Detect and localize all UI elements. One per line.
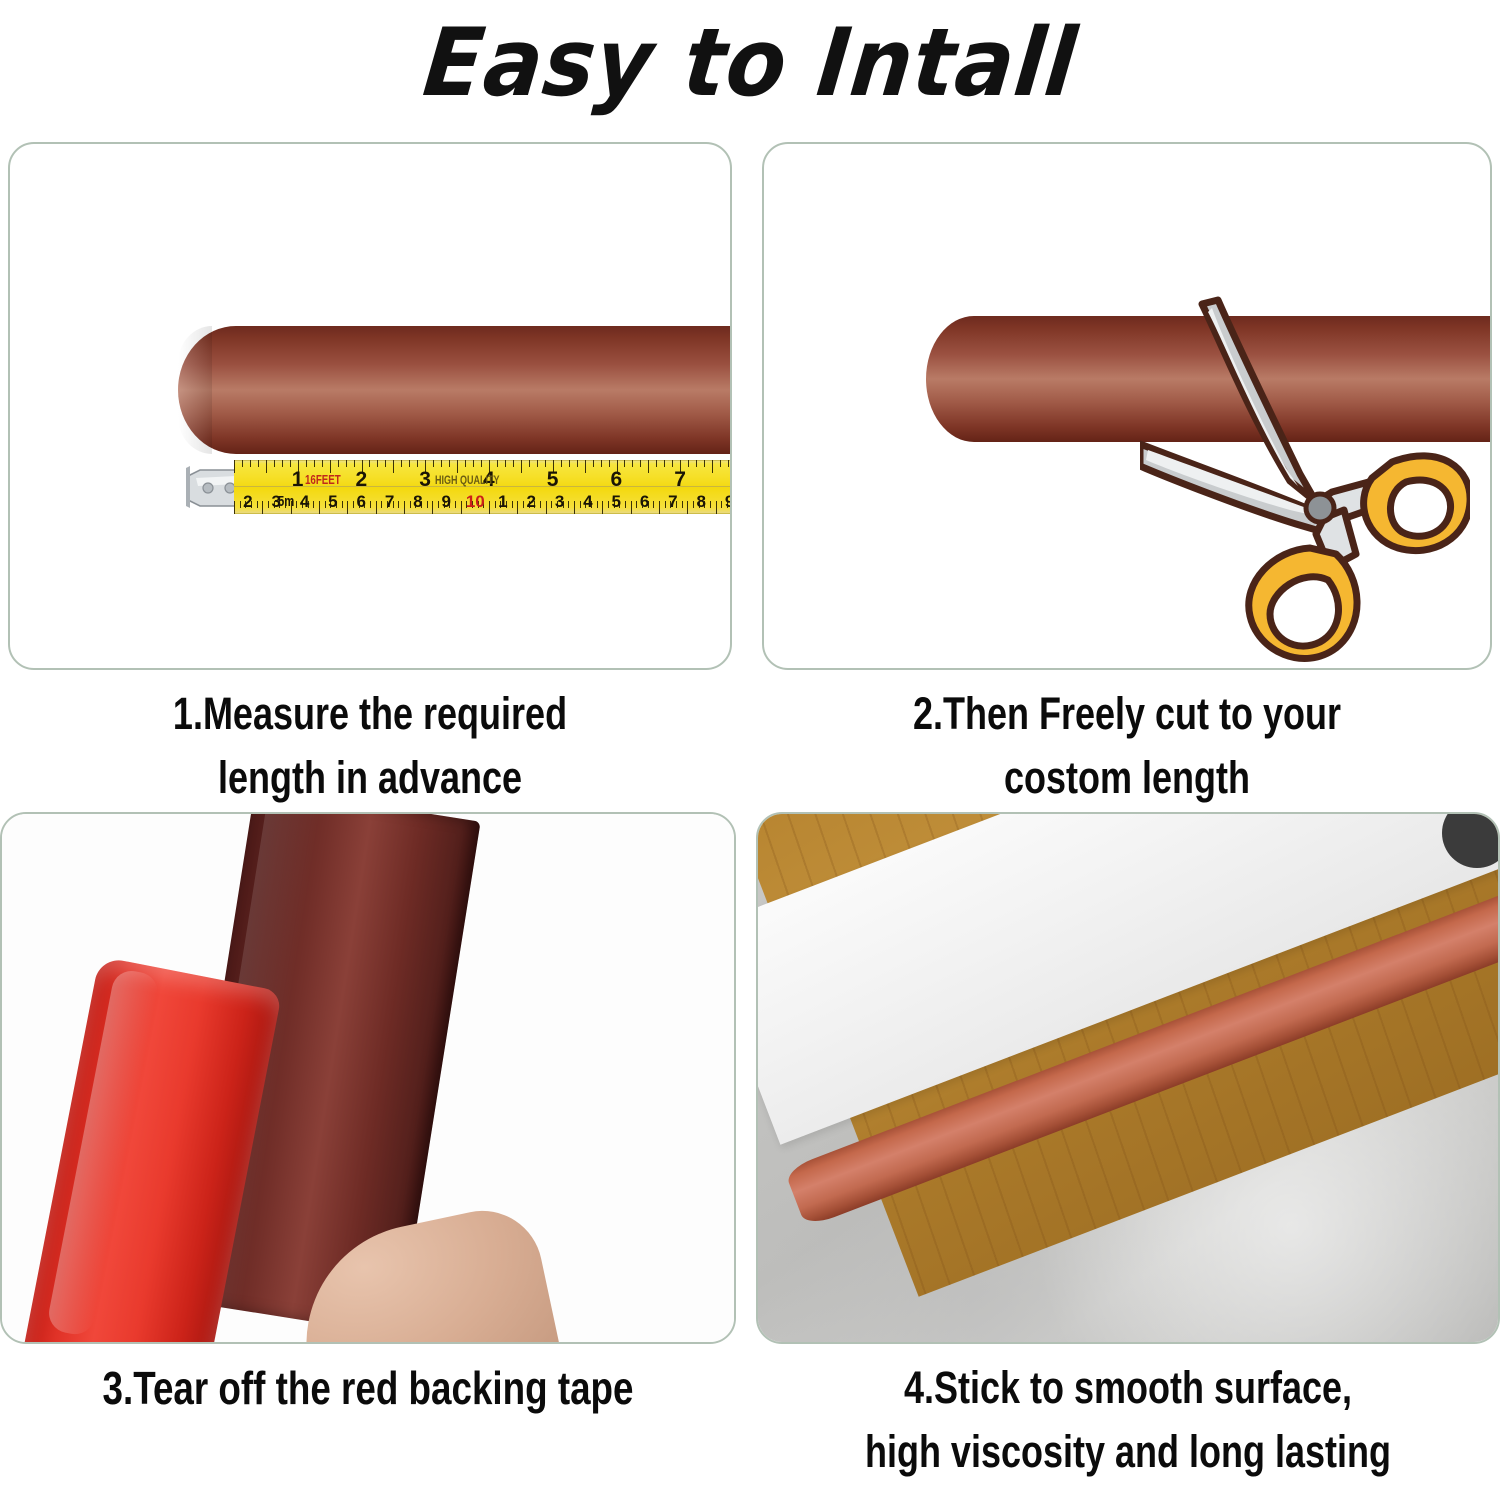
step-4-caption-line-1: 4.Stick to smooth surface,	[830, 1356, 1425, 1420]
step-4: 4.Stick to smooth surface, high viscosit…	[756, 812, 1500, 1485]
step-2-caption-line-2: costom length	[835, 746, 1419, 810]
tape-cm-mark: 3	[555, 493, 564, 510]
tape-cm-mark: 4	[300, 493, 309, 510]
tape-cm-mark: 6	[640, 493, 649, 510]
step-1-caption-line-1: 1.Measure the required	[80, 682, 659, 746]
tape-inch-mark: 7	[674, 469, 686, 490]
tape-cm-mark: 9	[725, 493, 732, 510]
step-1-caption-line-2: length in advance	[80, 746, 659, 810]
step-3: 3.Tear off the red backing tape	[0, 812, 736, 1485]
step-3-caption: 3.Tear off the red backing tape	[74, 1344, 663, 1421]
step-2-image-panel	[762, 142, 1492, 670]
step-4-caption-line-2: high viscosity and long lasting	[830, 1420, 1425, 1484]
tape-roll-illustration	[178, 326, 732, 454]
peel-backing-photo	[2, 814, 734, 1342]
tape-inch-mark: 5	[547, 469, 559, 490]
title-bar: Easy to Intall	[0, 0, 1500, 128]
tape-cm-mark: 2	[243, 493, 252, 510]
tape-cm-mark: 5	[328, 493, 337, 510]
tape-cm-mark: 5	[612, 493, 621, 510]
step-2-caption: 2.Then Freely cut to your costom length	[835, 670, 1419, 810]
step-2-caption-line-1: 2.Then Freely cut to your	[835, 682, 1419, 746]
tape-cm-mark: 1	[498, 493, 507, 510]
step-3-image-panel	[0, 812, 736, 1344]
step-1: 1234567234567891012345678916FEET5mHIGH Q…	[8, 142, 732, 822]
tape-cm-mark: 9	[442, 493, 451, 510]
tape-cm-mark: 4	[583, 493, 592, 510]
tape-length-label-metric: 5m	[278, 494, 294, 509]
steps-grid: 1234567234567891012345678916FEET5mHIGH Q…	[0, 128, 1500, 1485]
tape-length-label-imperial: 16FEET	[305, 473, 341, 486]
tape-inch-mark: 3	[419, 469, 431, 490]
tape-cm-mark: 10	[466, 493, 485, 510]
measuring-tape-illustration: 1234567234567891012345678916FEET5mHIGH Q…	[178, 460, 732, 514]
step-1-caption: 1.Measure the required length in advance	[80, 670, 659, 810]
tape-inch-mark: 6	[611, 469, 623, 490]
tape-cm-mark: 8	[413, 493, 422, 510]
page-title: Easy to Intall	[419, 17, 1081, 111]
tape-cm-mark: 2	[527, 493, 536, 510]
tape-cm-mark: 8	[697, 493, 706, 510]
tape-quality-label: HIGH QUALITY	[435, 474, 500, 486]
scissors-icon	[1140, 296, 1470, 666]
step-3-caption-line-1: 3.Tear off the red backing tape	[74, 1356, 663, 1421]
tape-cm-mark: 7	[385, 493, 394, 510]
tape-inch-mark: 1	[292, 469, 304, 490]
installed-tape-photo	[758, 814, 1498, 1342]
step-4-caption: 4.Stick to smooth surface, high viscosit…	[830, 1344, 1425, 1484]
step-2: 2.Then Freely cut to your costom length	[762, 142, 1492, 822]
tape-cm-mark: 6	[357, 493, 366, 510]
step-1-image-panel: 1234567234567891012345678916FEET5mHIGH Q…	[8, 142, 732, 670]
tape-inch-mark: 2	[356, 469, 368, 490]
tape-cm-mark: 7	[668, 493, 677, 510]
step-4-image-panel	[756, 812, 1500, 1344]
scissors-pivot-icon	[1306, 494, 1334, 522]
